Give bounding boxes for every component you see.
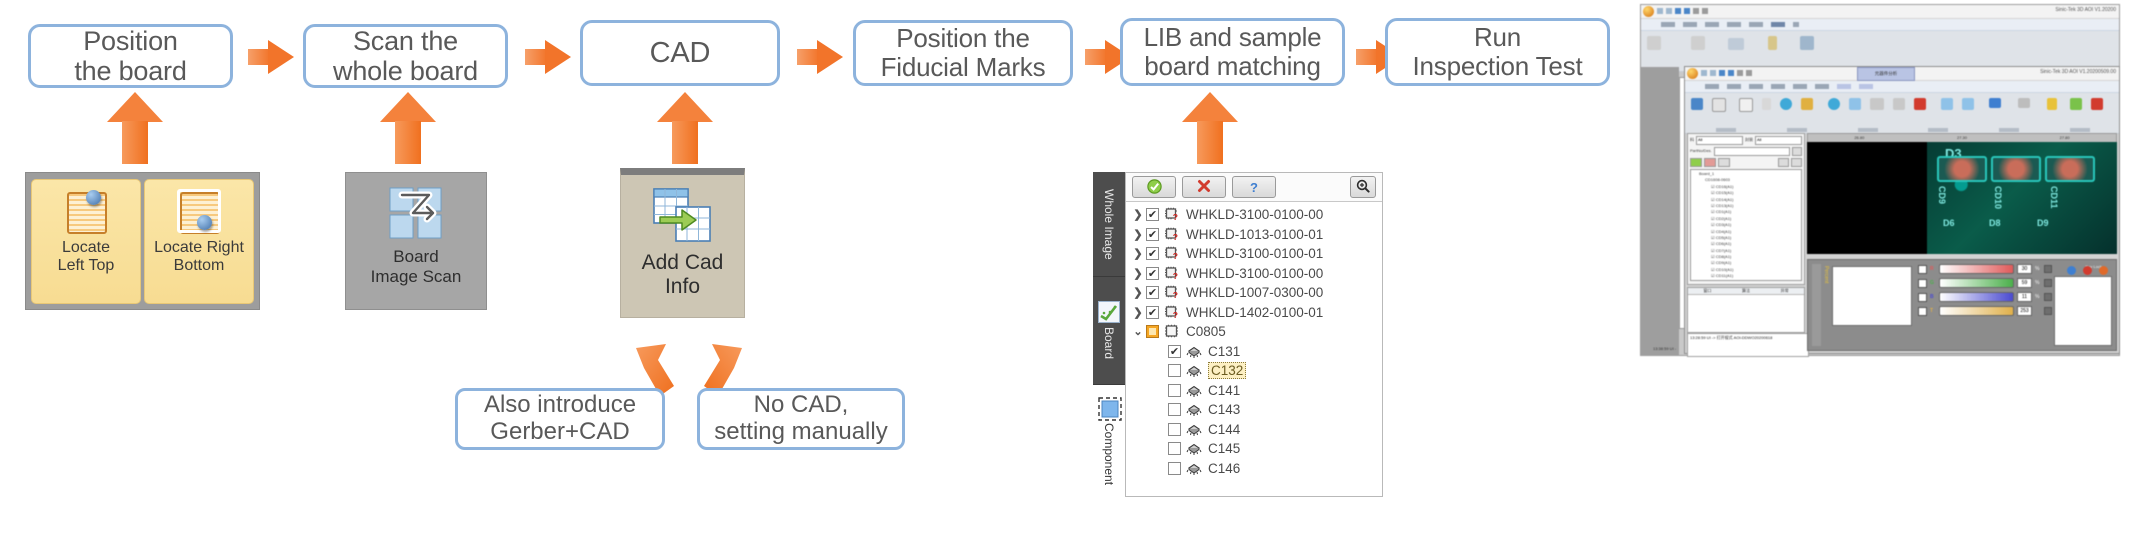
channel-slider[interactable] [1939,278,2014,288]
flow-box-position-the-fiducial-marks[interactable]: Position the Fiducial Marks [853,20,1073,86]
component-tree-body: ? ❯✔?WHKLD-3100-0100-00❯✔?WHKLD-1013-010… [1125,172,1383,497]
front-window-log-pane: 13:28:59 UI -> 打开程式 AOI-DDWO20200618 [1687,333,1809,357]
channel-name: T [1930,308,1936,314]
channel-value[interactable]: 30 [2017,264,2032,274]
pcb-label-cd10: CD10 [1993,186,2003,209]
ruler-tick-2: 27.30 [1957,135,1967,141]
channel-unit: % [2035,294,2041,300]
tree-row[interactable]: C143 [1126,400,1382,420]
reject-button[interactable] [1704,158,1716,167]
mini-tree-item[interactable]: ☑ CD12(A1) [1693,280,1799,281]
channel-name: G [1930,280,1936,286]
result-list [2054,276,2112,346]
pcb-label-d8: D8 [1989,218,2001,228]
pcb-label-cd11: CD11 [2049,186,2059,209]
component-chip-icon [1186,344,1202,359]
unknown-button[interactable] [1718,158,1730,167]
tree-row-checkbox[interactable] [1168,403,1181,416]
quick-access-toolbar [1657,8,1708,14]
channel-lock-checkbox[interactable] [2044,307,2052,315]
tree-row-checkbox[interactable] [1168,442,1181,455]
ribbon-group-locate: Locate Left Top Locate Right Bottom [25,172,260,310]
search-input[interactable] [1714,147,1790,156]
component-chip-icon [1186,363,1202,378]
svg-text:?: ? [1173,310,1178,320]
tree-row[interactable]: ⌄C0805 [1126,322,1382,342]
ruler-tick-1: 26.80 [1854,135,1864,141]
tree-row-checkbox[interactable] [1168,462,1181,475]
search-label: PartNo/Des. [1690,148,1712,154]
result-prev-button[interactable] [2067,266,2076,275]
tree-row[interactable]: C145 [1126,439,1382,459]
app-logo-icon [1687,68,1698,79]
chip-icon [1164,324,1180,339]
result-toolbar [2065,264,2110,277]
zoom-button[interactable] [1350,176,1376,198]
tree-row-label: WHKLD-1013-0100-01 [1186,227,1323,242]
channel-row[interactable]: B11% [1918,292,2052,302]
component-square-icon [1098,397,1120,419]
flow-box-scan-the-whole-board[interactable]: Scan the whole board [303,24,508,88]
chevron-down-icon[interactable]: ⌄ [1130,325,1146,338]
chevron-right-icon[interactable]: ❯ [1130,228,1146,241]
tree-row[interactable]: ❯✔?WHKLD-3100-0100-00 [1126,264,1382,284]
channel-row[interactable]: G59% [1918,278,2052,288]
up-arrow-locate-icon [105,92,165,164]
tree-row[interactable]: ❯✔?WHKLD-3100-0100-01 [1126,244,1382,264]
grid-header-algorithm: 算法 [1727,288,1766,294]
back-window-titlebar: Sinic-Tek 3D AOI V1.20200 [1641,5,2119,19]
channel-name: B [1930,294,1936,300]
table-import-arrow-icon [652,187,714,245]
channel-lock-checkbox[interactable] [2044,279,2052,287]
sticky-note-pin-icon [177,189,221,233]
callout-also-introduce-gerber-cad[interactable]: Also introduce Gerber+CAD [455,388,665,450]
flow-arrow-3-icon [797,40,843,74]
filter-label-package: 封装 [1745,137,1753,143]
vertical-tab-board-label: Board [1102,327,1116,359]
tree-row-label: C131 [1208,344,1240,359]
channel-value[interactable]: 253 [2017,306,2032,316]
channel-unit: % [2035,266,2041,272]
component-chip-icon [1186,383,1202,398]
channel-slider[interactable] [1939,264,2014,274]
quick-access-toolbar [1701,70,1752,76]
tree-row-checkbox[interactable] [1168,423,1181,436]
chip-question-icon: ? [1164,227,1180,242]
preview-canvas [1832,266,1912,326]
aoi-application-screenshot: Sinic-Tek 3D AOI V1.20200 13:38:59 UI - [1640,4,2120,369]
pcb-label-cd9: CD9 [1937,186,1947,204]
flow-arrow-1-icon [248,40,294,74]
button-board-image-scan-label: Board Image Scan [371,247,462,288]
unknown-button[interactable]: ? [1232,176,1276,198]
tree-row-label: C132 [1208,362,1246,379]
tree-row-checkbox[interactable] [1168,364,1181,377]
tree-row[interactable]: ❯✔?WHKLD-3100-0100-00 [1126,205,1382,225]
aoi-front-window: 元器件分析 Sinic-Tek 3D AOI V1.20200509.00 [1684,66,2120,354]
ruler-tick-3: 27.80 [2060,135,2070,141]
percent-label: Percent [1823,266,1829,283]
vertical-tab-component-label: Component [1102,423,1116,485]
zoom-button[interactable] [1778,158,1789,167]
chevron-right-icon[interactable]: ❯ [1130,247,1146,260]
pcb-label-d6: D6 [1943,218,1955,228]
chip-question-icon: ? [1164,246,1180,261]
up-arrow-cad-icon [655,92,715,164]
chevron-right-icon[interactable]: ❯ [1130,286,1146,299]
tree-row-label: WHKLD-1402-0100-01 [1186,305,1323,320]
result-stop-button[interactable] [2083,266,2092,275]
channel-enable-checkbox[interactable] [1918,265,1927,274]
chip-question-icon: ? [1164,207,1180,222]
channel-value[interactable]: 59 [2017,278,2032,288]
tree-row-label: WHKLD-3100-0100-01 [1186,246,1323,261]
back-window-menubar[interactable] [1641,19,2119,31]
callout-no-cad-setting-manually[interactable]: No CAD, setting manually [697,388,905,450]
tree-row[interactable]: ❯✔?WHKLD-1402-0100-01 [1126,303,1382,323]
tree-row-checkbox[interactable]: ✔ [1146,208,1159,221]
chevron-right-icon[interactable]: ❯ [1130,208,1146,221]
front-window-ribbon [1685,93,2119,134]
front-window-properties-panel: Percent Rev Lock R30%G59%B11%T253 [1807,259,2117,351]
channel-lock-checkbox[interactable] [2044,293,2052,301]
channel-slider[interactable] [1939,292,2014,302]
tree-row-checkbox[interactable]: ✔ [1146,286,1159,299]
tree-row[interactable]: ✔C131 [1126,342,1382,362]
tree-row[interactable]: ❯✔?WHKLD-1007-0300-00 [1126,283,1382,303]
channel-enable-checkbox[interactable] [1918,279,1927,288]
filter-value-part[interactable]: All [1696,136,1743,145]
mini-tree-items: ☑ CD16(A1)☑ CD15(A1)☑ CD14(A1)☑ CD13(A1)… [1693,184,1799,281]
tree-row-label: C146 [1208,461,1240,476]
svg-text:?: ? [1173,212,1178,222]
sticky-note-pin-icon [64,189,108,233]
blue-question-icon: ? [1250,181,1258,194]
tree-row-checkbox[interactable]: ✔ [1146,247,1159,260]
component-tree-toolbar: ? [1126,173,1382,202]
result-next-button[interactable] [2099,266,2108,275]
diagram-canvas: Position the board Scan the whole board … [0,0,2130,540]
channel-enable-checkbox[interactable] [1918,307,1927,316]
tree-row-label: C143 [1208,402,1240,417]
front-window-menubar[interactable] [1685,81,2119,93]
channel-unit: % [2035,280,2041,286]
tree-row-label: C141 [1208,383,1240,398]
search-icon[interactable] [1792,147,1802,156]
tree-row[interactable]: ❯✔?WHKLD-1013-0100-01 [1126,225,1382,245]
svg-text:?: ? [1173,290,1178,300]
tree-row-checkbox[interactable]: ✔ [1168,345,1181,358]
up-arrow-lib-icon [1180,92,1240,164]
board-chart-icon [1098,301,1120,323]
channel-value[interactable]: 11 [2017,292,2032,302]
tree-row-checkbox[interactable]: ✔ [1146,228,1159,241]
tree-row-label: WHKLD-3100-0100-00 [1186,266,1323,281]
component-chip-icon [1186,402,1202,417]
tree-row-label: WHKLD-1007-0300-00 [1186,285,1323,300]
chevron-right-icon[interactable]: ❯ [1130,267,1146,280]
component-tree-panel: Whole Image Board [1093,172,1383,497]
channel-row[interactable]: T253 [1918,306,2052,316]
button-locate-left-top[interactable]: Locate Left Top [31,179,141,304]
flow-box-position-the-board[interactable]: Position the board [28,24,233,88]
ribbon-group-add-cad-info[interactable]: Add Cad Info [620,168,745,318]
back-window-left-dock [1641,67,1679,355]
component-chip-icon [1186,441,1202,456]
accept-button[interactable] [1690,158,1702,167]
component-tree-rows: ❯✔?WHKLD-3100-0100-00❯✔?WHKLD-1013-0100-… [1126,202,1382,478]
flow-box-cad[interactable]: CAD [580,20,780,86]
back-window-version-label: Sinic-Tek 3D AOI V1.20200 [2055,7,2116,13]
svg-text:?: ? [1173,251,1178,261]
button-locate-left-top-label: Locate Left Top [58,239,115,276]
app-logo-icon [1643,6,1654,17]
back-window-status-log: 13:38:59 UI - [1653,346,1676,351]
front-window-titlebar: 元器件分析 Sinic-Tek 3D AOI V1.20200509.00 [1685,67,2119,81]
tree-row[interactable]: C141 [1126,381,1382,401]
svg-text:?: ? [1173,271,1178,281]
tree-row[interactable]: C144 [1126,420,1382,440]
svg-text:?: ? [1173,232,1178,242]
tree-row-checkbox[interactable] [1146,325,1159,338]
front-window-tab-badge: 元器件分析 [1857,67,1915,81]
vertical-tab-component[interactable]: Component [1093,385,1125,497]
up-arrow-scan-icon [378,92,438,164]
chevron-right-icon[interactable]: ❯ [1130,306,1146,319]
ribbon-group-board-image-scan[interactable]: Board Image Scan [345,172,487,310]
flow-arrow-2-icon [525,40,571,74]
filter-label-part: 料 [1690,137,1694,143]
vertical-tab-whole-image-label: Whole Image [1102,189,1116,260]
zoom-in-button[interactable] [1791,158,1802,167]
channel-row[interactable]: R30% [1918,264,2052,274]
grid-header-window: 窗口 [1688,288,1727,294]
vertical-tab-whole-image[interactable]: Whole Image [1093,172,1125,277]
serpentine-scan-icon [389,187,443,239]
tree-row-label: C0805 [1186,324,1226,339]
flow-box-lib-and-sample-board-matching[interactable]: LIB and sample board matching [1120,18,1345,86]
vertical-tab-board[interactable]: Board [1093,277,1125,385]
tree-row-checkbox[interactable]: ✔ [1146,306,1159,319]
green-check-circle-icon [1147,179,1162,196]
tree-row[interactable]: C146 [1126,459,1382,479]
chip-question-icon: ? [1164,285,1180,300]
filter-value-package[interactable]: All [1755,136,1802,145]
component-chip-icon [1186,461,1202,476]
accept-button[interactable] [1132,176,1176,198]
channel-slider[interactable] [1939,306,2014,316]
button-locate-right-bottom-label: Locate Right Bottom [154,239,244,276]
magnifier-plus-icon [1356,179,1370,195]
channel-name: R [1930,266,1936,272]
front-window-grid-pane: 窗口 算法 异常 [1687,287,1805,333]
button-add-cad-info-label: Add Cad Info [642,251,724,299]
tree-row-label: WHKLD-3100-0100-00 [1186,207,1323,222]
tree-row[interactable]: C132 [1126,361,1382,381]
grid-header-defect: 异常 [1765,288,1804,294]
flow-box-run-inspection-test[interactable]: Run Inspection Test [1385,18,1610,86]
channel-lock-checkbox[interactable] [2044,265,2052,273]
tree-row-label: C145 [1208,441,1240,456]
button-locate-right-bottom[interactable]: Locate Right Bottom [144,179,254,304]
tree-row-checkbox[interactable]: ✔ [1146,267,1159,280]
component-chip-icon [1186,422,1202,437]
tree-row-label: C144 [1208,422,1240,437]
pcb-label-d9: D9 [2037,218,2049,228]
channel-enable-checkbox[interactable] [1918,293,1927,302]
chip-question-icon: ? [1164,305,1180,320]
reject-button[interactable] [1182,176,1226,198]
channel-sliders: Rev Lock R30%G59%B11%T253 [1918,264,2052,320]
tree-row-checkbox[interactable] [1168,384,1181,397]
chip-question-icon: ? [1164,266,1180,281]
front-window-tree-pane: 料 All 封装 All PartNo/Des. [1687,133,1805,285]
vertical-tab-strip: Whole Image Board [1093,172,1125,497]
front-window-pcb-viewport[interactable]: D3 CD9 CD10 CD11 D6 D8 D9 [1807,142,2117,254]
front-window-version-label: Sinic-Tek 3D AOI V1.20200509.00 [2040,69,2116,75]
red-x-icon [1197,179,1211,195]
